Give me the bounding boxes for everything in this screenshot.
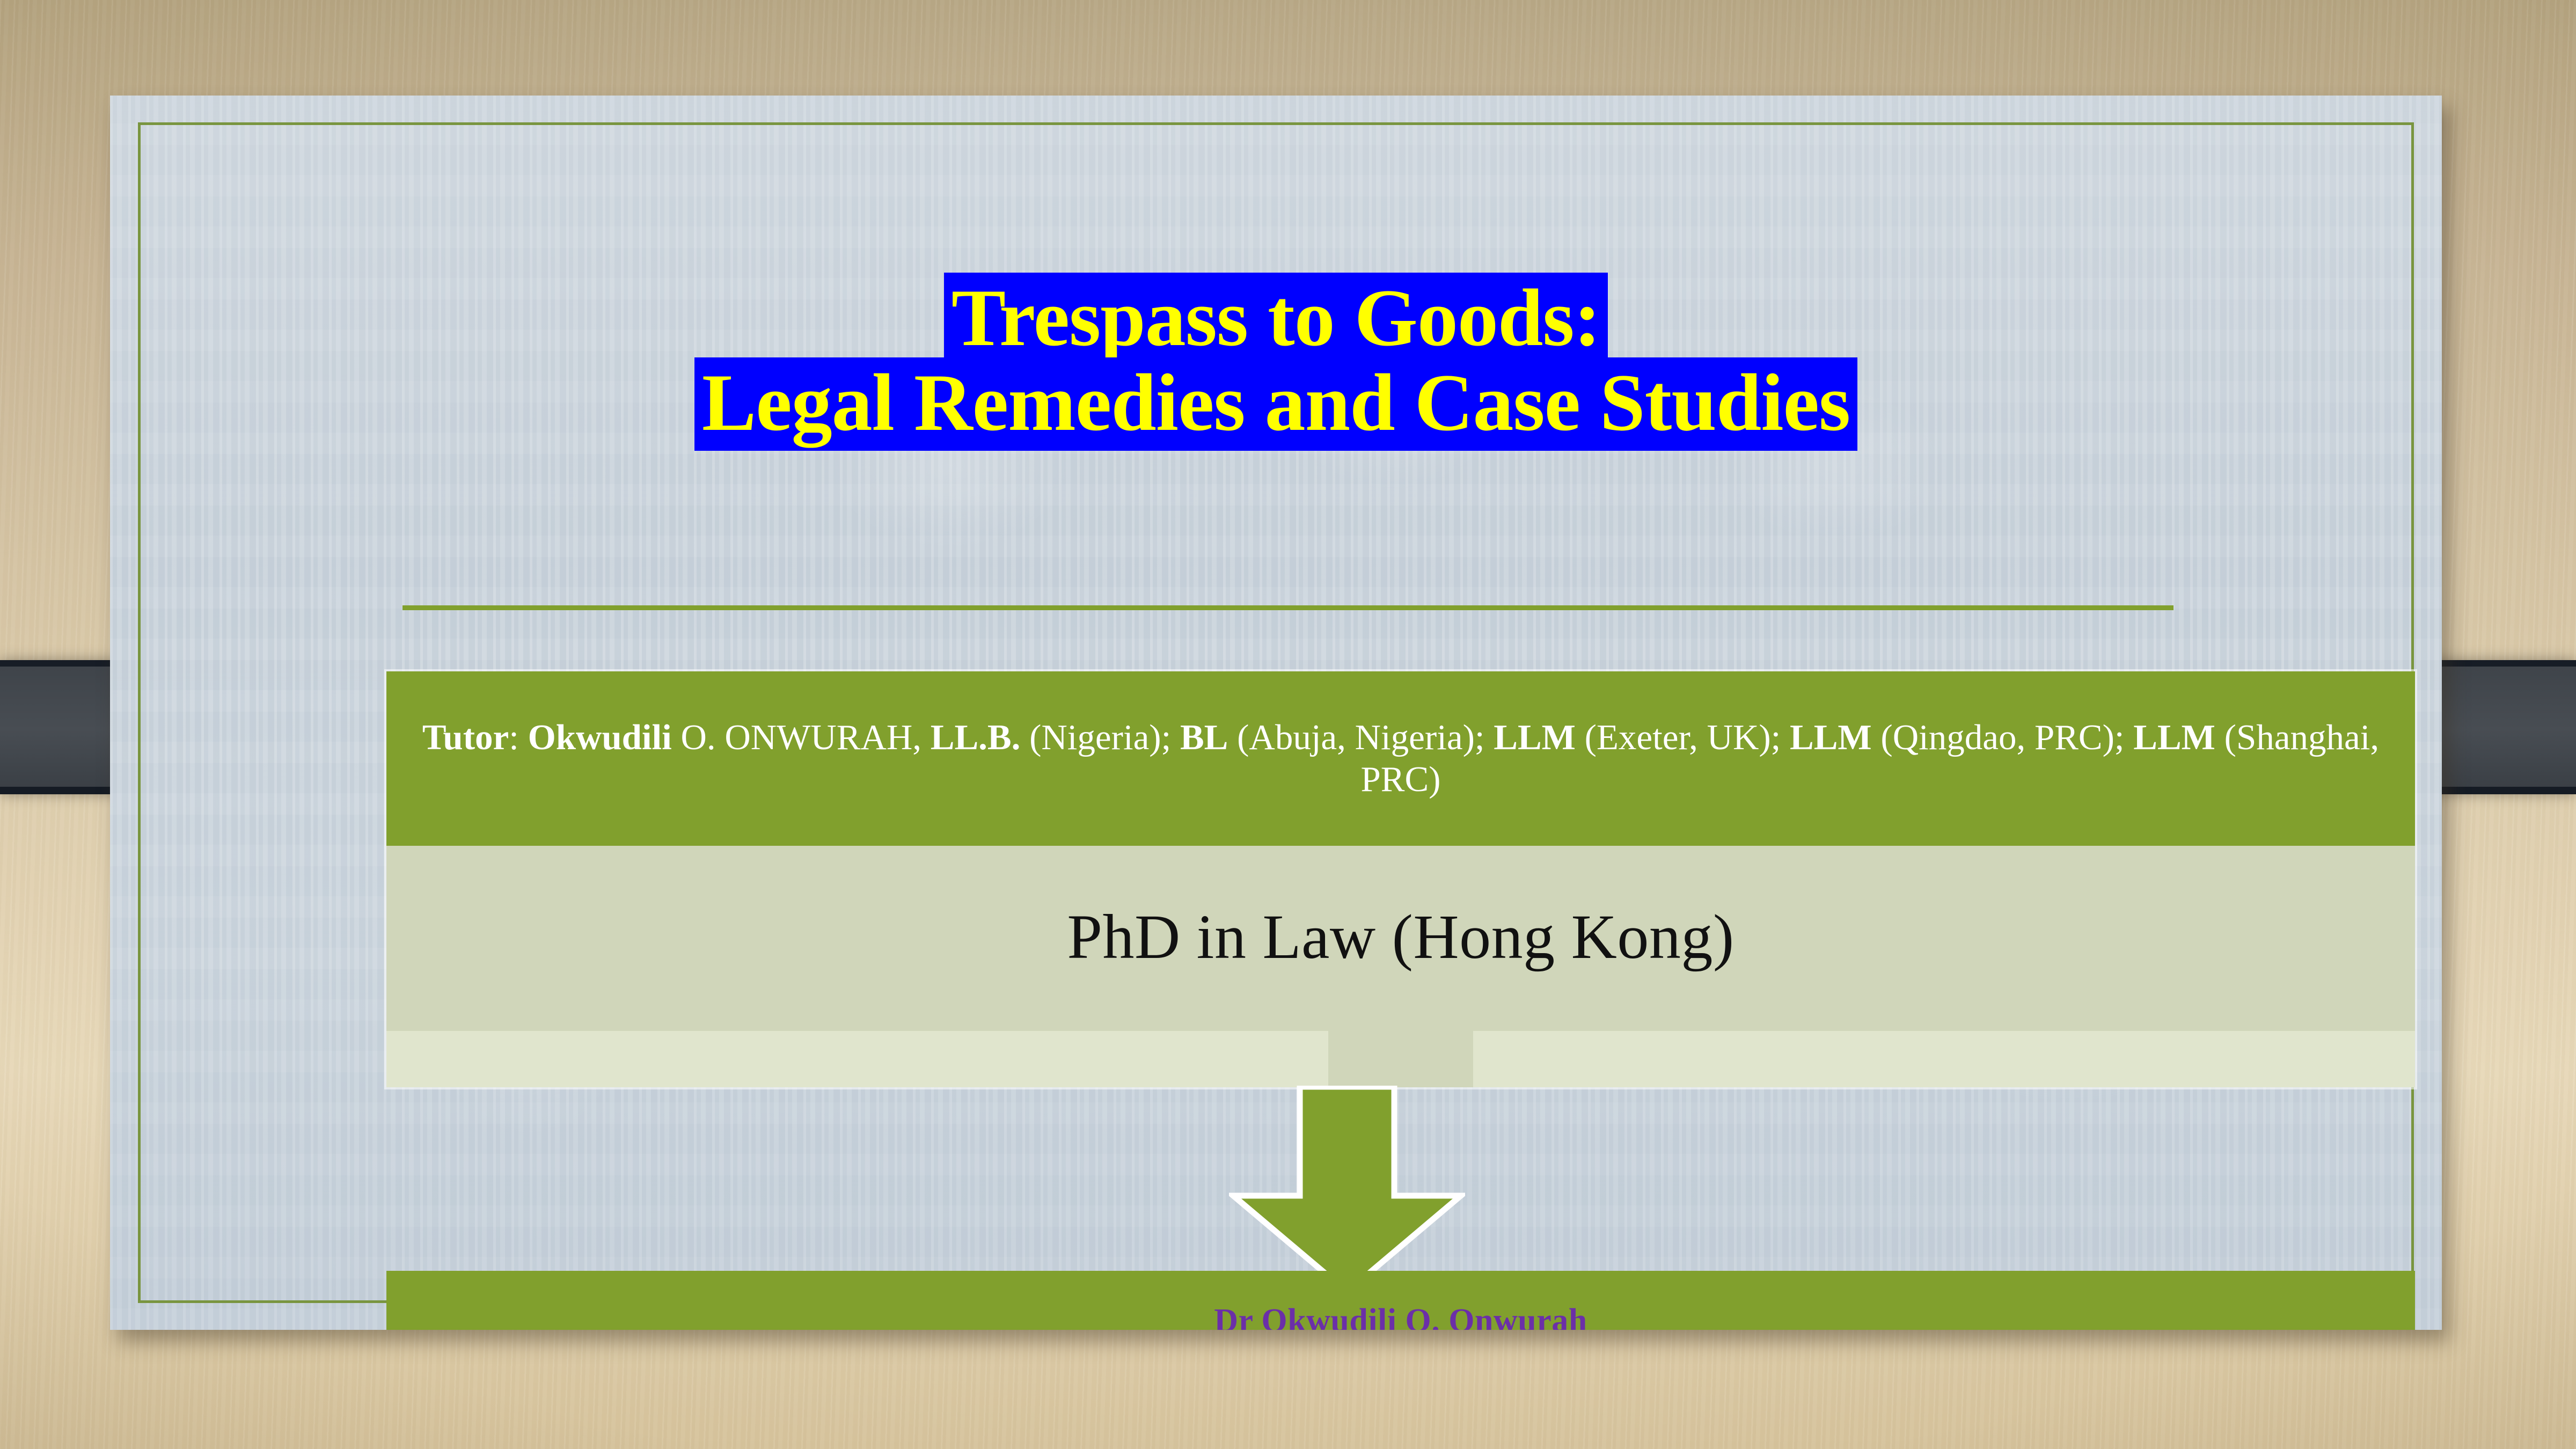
credential-llm-exeter-place: (Exeter, UK); [1576,718,1790,757]
title-line-2: Legal Remedies and Case Studies [694,357,1857,451]
credential-bl: BL [1180,718,1228,757]
credential-llm-qingdao-place: (Qingdao, PRC); [1872,718,2134,757]
credential-llm-exeter: LLM [1494,718,1576,757]
credentials-bar: Tutor: Okwudili O. ONWURAH, LL.B. (Niger… [386,671,2415,846]
slide-title: Trespass to Goods: Legal Remedies and Ca… [110,273,2442,451]
credential-llm-shanghai: LLM [2133,718,2215,757]
credentials-text: Tutor: Okwudili O. ONWURAH, LL.B. (Niger… [409,717,2392,800]
presenter-info-panel: Tutor: Okwudili O. ONWURAH, LL.B. (Niger… [386,671,2415,1087]
credentials-first-name: Okwudili [528,718,672,757]
footer-slide-number: 1 [2388,1324,2402,1330]
credentials-separator: : [509,718,528,757]
footer-date: 11/25/2024 [2123,1324,2244,1330]
presenter-bar: Dr Okwudili O. Onwurah [386,1271,2415,1330]
panel-foot-left [386,1031,1328,1087]
panel-foot-right [1473,1031,2415,1087]
credentials-tutor-label: Tutor [422,718,509,757]
credential-llb-place: (Nigeria); [1020,718,1180,757]
presentation-slide[interactable]: Trespass to Goods: Legal Remedies and Ca… [110,96,2442,1330]
presenter-name: Dr Okwudili O. Onwurah [1214,1302,1587,1330]
degree-headline: PhD in Law (Hong Kong) [1067,901,1734,974]
credential-llm-qingdao: LLM [1790,718,1872,757]
title-line-1: Trespass to Goods: [944,273,1608,366]
title-divider-rule [402,605,2173,610]
degree-headline-row: PhD in Law (Hong Kong) [386,846,2415,1028]
credentials-surname: O. ONWURAH, [672,718,931,757]
arrow-down-icon [1229,1086,1465,1295]
credential-llb: LL.B. [931,718,1021,757]
credential-bl-place: (Abuja, Nigeria); [1228,718,1494,757]
